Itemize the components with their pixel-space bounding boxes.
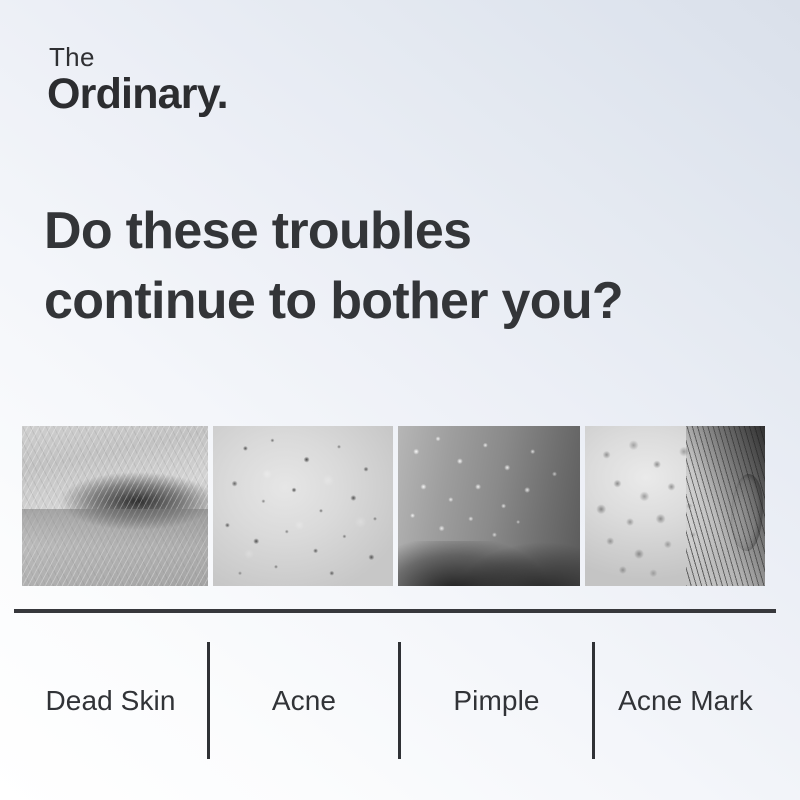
lip-shadow [22,509,208,586]
acne-mark-temple-photo [585,426,765,586]
eyebrow-shadow [398,541,580,586]
brand-logo-prefix: The [49,44,228,70]
concern-photo-strip [22,426,778,586]
concern-label-dead-skin: Dead Skin [14,642,207,759]
promo-banner: The Ordinary. Do these troubles continue… [0,0,800,800]
page-title: Do these troubles continue to bother you… [44,196,744,336]
pimple-forehead-photo [398,426,580,586]
acne-spots [213,426,393,586]
brand-logo: The Ordinary. [47,44,228,116]
brand-logo-name: Ordinary. [47,73,228,116]
concern-label-row: Dead Skin Acne Pimple Acne Mark [14,642,776,759]
acne-cheek-photo [213,426,393,586]
concern-label-acne-mark: Acne Mark [595,642,776,759]
hair-strands [686,426,765,586]
headline-line-2: continue to bother you? [44,266,744,336]
dead-skin-lips-photo [22,426,208,586]
headline-line-1: Do these troubles [44,196,744,266]
concern-label-pimple: Pimple [401,642,592,759]
concern-label-acne: Acne [210,642,398,759]
horizontal-rule [14,609,776,613]
